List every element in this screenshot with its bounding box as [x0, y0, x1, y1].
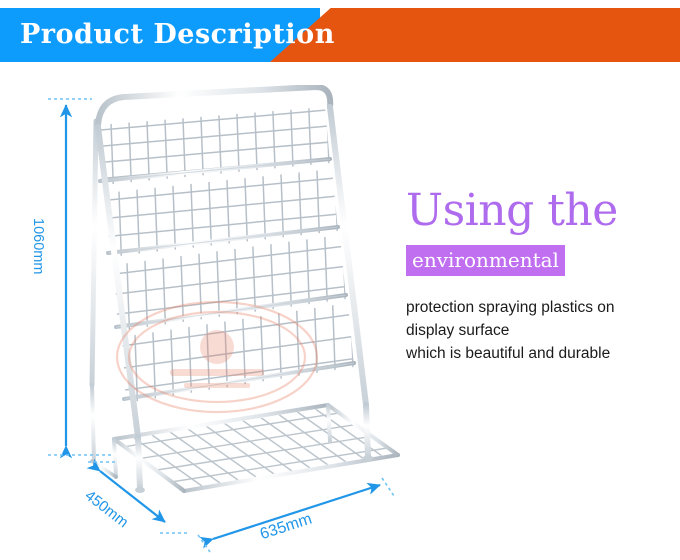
headline-highlight: environmental [406, 245, 565, 276]
body-copy: protection spraying plastics on display … [406, 296, 676, 365]
body-copy-line-2: display surface [406, 319, 676, 342]
wire-display-rack-illustration [80, 85, 410, 505]
product-photo [80, 85, 410, 505]
body-copy-line-3: which is beautiful and durable [406, 342, 676, 365]
page-title: Product Description [20, 13, 310, 57]
marketing-copy-block: Using the environmental protection spray… [406, 186, 676, 365]
header-banner: Product Description [0, 0, 680, 70]
body-copy-line-1: protection spraying plastics on [406, 296, 676, 319]
headline: Using the [406, 186, 676, 236]
headline-highlight-wrap: environmental [406, 245, 676, 276]
dimension-label-height: 1060mm [30, 218, 46, 274]
dimension-label-width: 635mm [258, 511, 314, 545]
